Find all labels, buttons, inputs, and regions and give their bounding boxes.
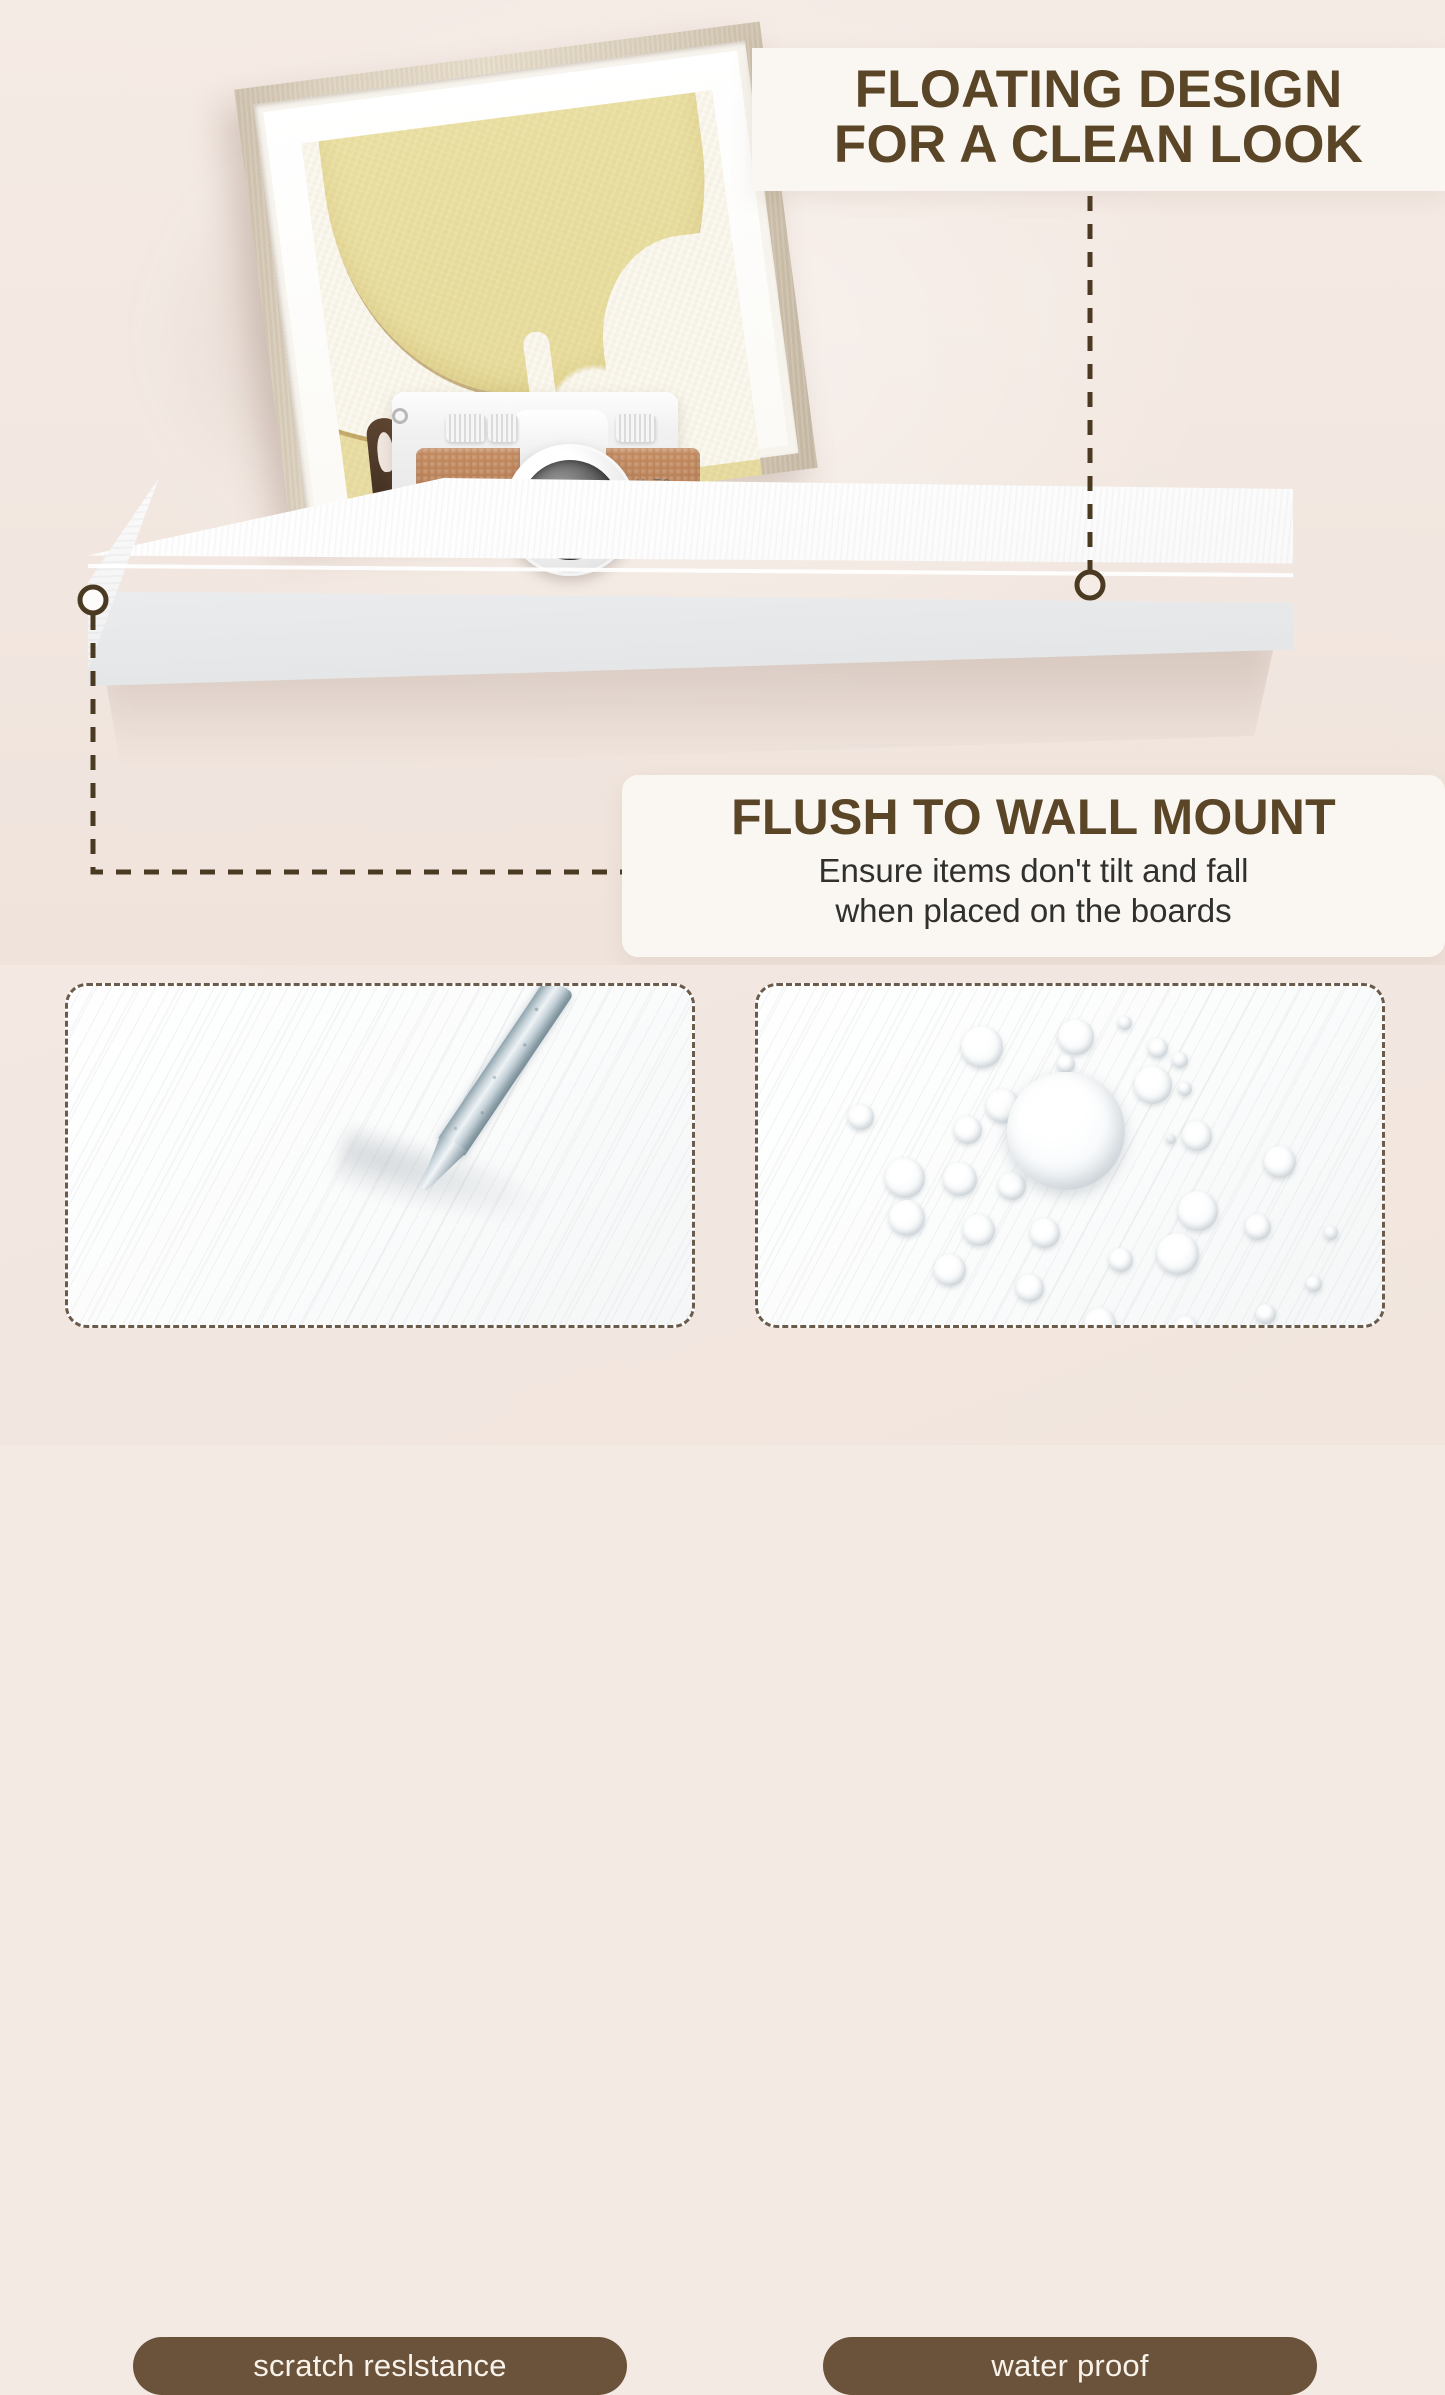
callout-headline-line1: FLOATING DESIGN xyxy=(778,62,1419,117)
water-droplet xyxy=(1166,1134,1176,1144)
callout-flush-mount: FLUSH TO WALL MOUNT Ensure items don't t… xyxy=(622,775,1445,957)
panel-scratch-resistance xyxy=(65,983,695,1328)
water-droplet xyxy=(934,1254,966,1286)
panel-water-proof xyxy=(755,983,1385,1328)
feature-panels: scratch reslstance water proof xyxy=(0,975,1445,1445)
callout-floating-design: FLOATING DESIGN FOR A CLEAN LOOK xyxy=(752,48,1445,191)
water-droplet-large xyxy=(1007,1072,1125,1190)
water-droplet xyxy=(1172,1052,1188,1068)
panel-scratch-image xyxy=(68,986,692,1325)
callout-headline: FLUSH TO WALL MOUNT xyxy=(648,791,1419,843)
water-droplet xyxy=(1256,1304,1276,1324)
water-droplet xyxy=(998,1172,1026,1200)
label-pill-scratch-resistance: scratch reslstance xyxy=(133,2337,627,2395)
water-droplet xyxy=(1245,1214,1271,1240)
water-droplet xyxy=(1148,1038,1168,1058)
callout-headline-line2: FOR A CLEAN LOOK xyxy=(778,117,1419,172)
callout-subline-line1: Ensure items don't tilt and fall xyxy=(648,851,1419,891)
water-droplet xyxy=(1178,1191,1218,1231)
water-droplet xyxy=(1118,1016,1132,1030)
water-droplet xyxy=(889,1200,925,1236)
infographic-canvas: X-T3 xyxy=(0,0,1445,1445)
panel-water-image xyxy=(758,986,1382,1325)
water-droplet xyxy=(963,1214,995,1246)
connector-line-left xyxy=(93,615,622,872)
product-hero-scene: X-T3 xyxy=(0,0,1445,965)
water-droplet xyxy=(848,1104,874,1130)
water-droplet xyxy=(1178,1082,1192,1096)
label-pill-water-proof: water proof xyxy=(823,2337,1317,2395)
water-droplet xyxy=(885,1158,925,1198)
water-droplet xyxy=(1016,1274,1044,1302)
water-droplet xyxy=(1109,1248,1133,1272)
water-droplet xyxy=(1324,1226,1338,1240)
water-droplet xyxy=(961,1026,1003,1068)
water-droplet xyxy=(1057,1055,1075,1073)
connector-marker-left xyxy=(80,587,106,613)
callout-subline-line2: when placed on the boards xyxy=(648,891,1419,931)
water-droplet xyxy=(1058,1019,1094,1055)
water-droplet xyxy=(1030,1218,1060,1248)
water-droplet xyxy=(954,1116,982,1144)
water-droplet xyxy=(943,1162,977,1196)
water-droplet xyxy=(1264,1146,1296,1178)
water-droplet xyxy=(1134,1066,1172,1104)
water-droplet xyxy=(1182,1121,1212,1151)
water-droplet xyxy=(1306,1276,1322,1292)
connector-marker-top xyxy=(1077,572,1103,598)
water-droplet xyxy=(1157,1233,1199,1275)
